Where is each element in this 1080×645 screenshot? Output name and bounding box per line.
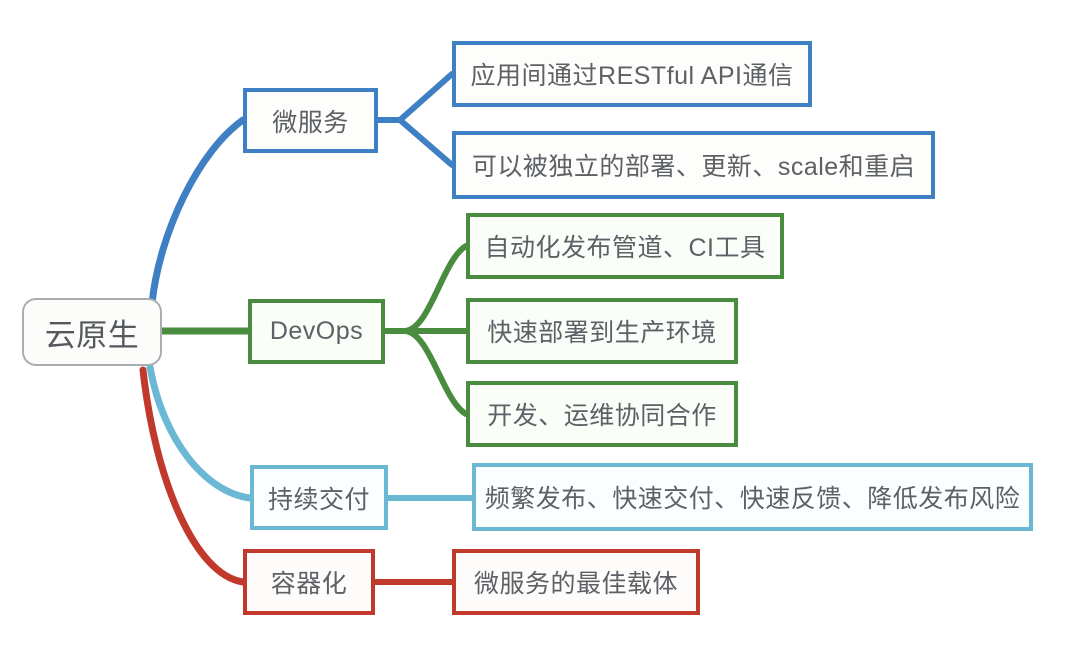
branch-label-containerization: 容器化 [271, 564, 348, 600]
leaf-node-microservices-1[interactable]: 应用间通过RESTful API通信 [452, 41, 812, 107]
branch-node-devops[interactable]: DevOps [248, 299, 385, 364]
leaf-label-devops-3: 开发、运维协同合作 [487, 396, 717, 432]
leaf-node-containerization-1[interactable]: 微服务的最佳载体 [452, 549, 700, 615]
connector-devops-fork-1 [385, 246, 466, 331]
leaf-label-microservices-1: 应用间通过RESTful API通信 [471, 56, 794, 92]
leaf-label-microservices-2: 可以被独立的部署、更新、scale和重启 [472, 147, 915, 183]
branch-node-microservices[interactable]: 微服务 [243, 88, 378, 153]
leaf-node-devops-2[interactable]: 快速部署到生产环境 [466, 298, 738, 364]
connector-root-to-microservices [152, 120, 243, 303]
root-node[interactable]: 云原生 [22, 298, 162, 366]
leaf-label-devops-1: 自动化发布管道、CI工具 [484, 228, 765, 264]
leaf-label-continuous-delivery-1: 频繁发布、快速交付、快速反馈、降低发布风险 [485, 479, 1021, 515]
leaf-label-devops-2: 快速部署到生产环境 [487, 313, 717, 349]
branch-label-microservices: 微服务 [272, 103, 349, 139]
branch-label-continuous-delivery: 持续交付 [268, 480, 370, 516]
leaf-node-continuous-delivery-1[interactable]: 频繁发布、快速交付、快速反馈、降低发布风险 [472, 463, 1033, 531]
root-node-label: 云原生 [45, 310, 140, 355]
branch-node-continuous-delivery[interactable]: 持续交付 [250, 465, 388, 530]
leaf-node-microservices-2[interactable]: 可以被独立的部署、更新、scale和重启 [452, 131, 935, 199]
connector-root-to-continuous-delivery [150, 367, 250, 498]
connector-devops-fork-3 [385, 331, 466, 414]
leaf-label-containerization-1: 微服务的最佳载体 [474, 564, 678, 600]
connector-microservices-fork-1 [377, 74, 452, 120]
mindmap-canvas: 云原生 微服务 应用间通过RESTful API通信 可以被独立的部署、更新、s… [0, 0, 1080, 645]
leaf-node-devops-3[interactable]: 开发、运维协同合作 [466, 381, 738, 447]
leaf-node-devops-1[interactable]: 自动化发布管道、CI工具 [466, 213, 784, 279]
branch-node-containerization[interactable]: 容器化 [243, 549, 375, 615]
branch-label-devops: DevOps [270, 317, 363, 346]
connector-root-to-containerization [143, 370, 243, 582]
connector-microservices-fork-2 [377, 120, 452, 165]
